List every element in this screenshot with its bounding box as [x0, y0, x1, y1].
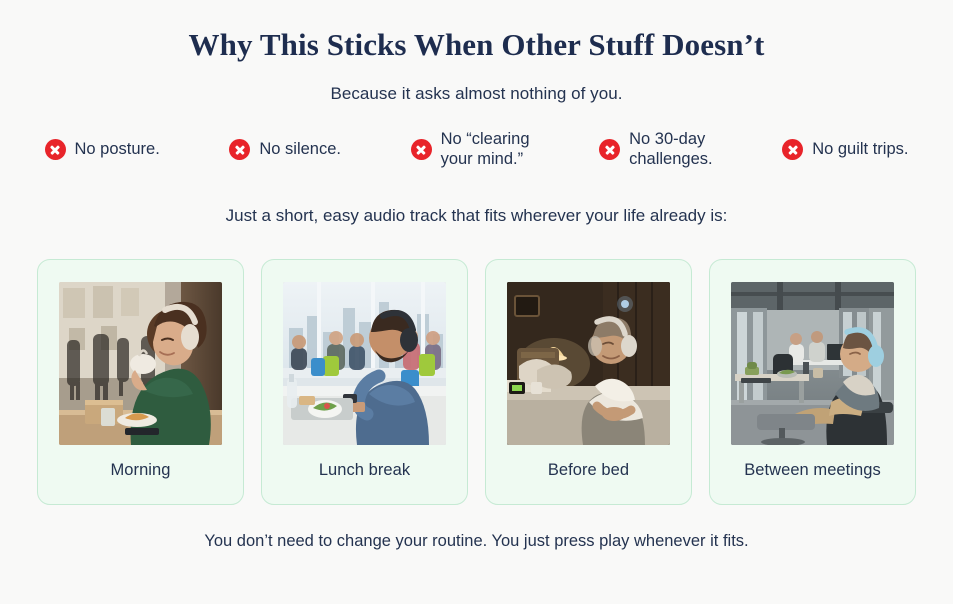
negative-item-no-silence: No silence.: [229, 139, 341, 160]
use-case-card-label: Lunch break: [319, 445, 410, 480]
use-case-card-label: Morning: [111, 445, 171, 480]
use-case-card-list: Morning: [37, 259, 916, 505]
negative-item-label: No “clearing your mind.”: [441, 130, 530, 170]
negative-item-label: No posture.: [75, 140, 160, 159]
footer-note: You don’t need to change your routine. Y…: [204, 505, 748, 551]
page-title: Why This Sticks When Other Stuff Doesn’t: [189, 26, 765, 63]
use-case-card-label: Before bed: [548, 445, 629, 480]
x-circle-icon: [782, 139, 803, 160]
negative-item-label: No 30-day challenges.: [629, 130, 712, 170]
use-case-card-between-meetings[interactable]: Between meetings: [709, 259, 916, 505]
lunch-break-photo: [283, 282, 446, 445]
negative-item-label: No silence.: [259, 140, 341, 159]
negatives-list: No posture. No silence. No “clearing you…: [37, 130, 917, 170]
negative-item-no-posture: No posture.: [45, 139, 160, 160]
x-circle-icon: [599, 139, 620, 160]
subheading: Because it asks almost nothing of you.: [330, 63, 622, 104]
morning-photo: [59, 282, 222, 445]
x-circle-icon: [229, 139, 250, 160]
negative-item-no-30-day-challenges: No 30-day challenges.: [599, 130, 712, 170]
before-bed-photo: [507, 282, 670, 445]
negative-item-no-clearing-your-mind: No “clearing your mind.”: [411, 130, 530, 170]
promo-section: Why This Sticks When Other Stuff Doesn’t…: [0, 0, 953, 604]
negative-item-label: No guilt trips.: [812, 140, 908, 159]
between-meetings-photo: [731, 282, 894, 445]
lead-in-text: Just a short, easy audio track that fits…: [226, 170, 728, 226]
negative-item-no-guilt-trips: No guilt trips.: [782, 139, 908, 160]
use-case-card-lunch-break[interactable]: Lunch break: [261, 259, 468, 505]
use-case-card-before-bed[interactable]: Before bed: [485, 259, 692, 505]
x-circle-icon: [411, 139, 432, 160]
x-circle-icon: [45, 139, 66, 160]
use-case-card-label: Between meetings: [744, 445, 881, 480]
use-case-card-morning[interactable]: Morning: [37, 259, 244, 505]
